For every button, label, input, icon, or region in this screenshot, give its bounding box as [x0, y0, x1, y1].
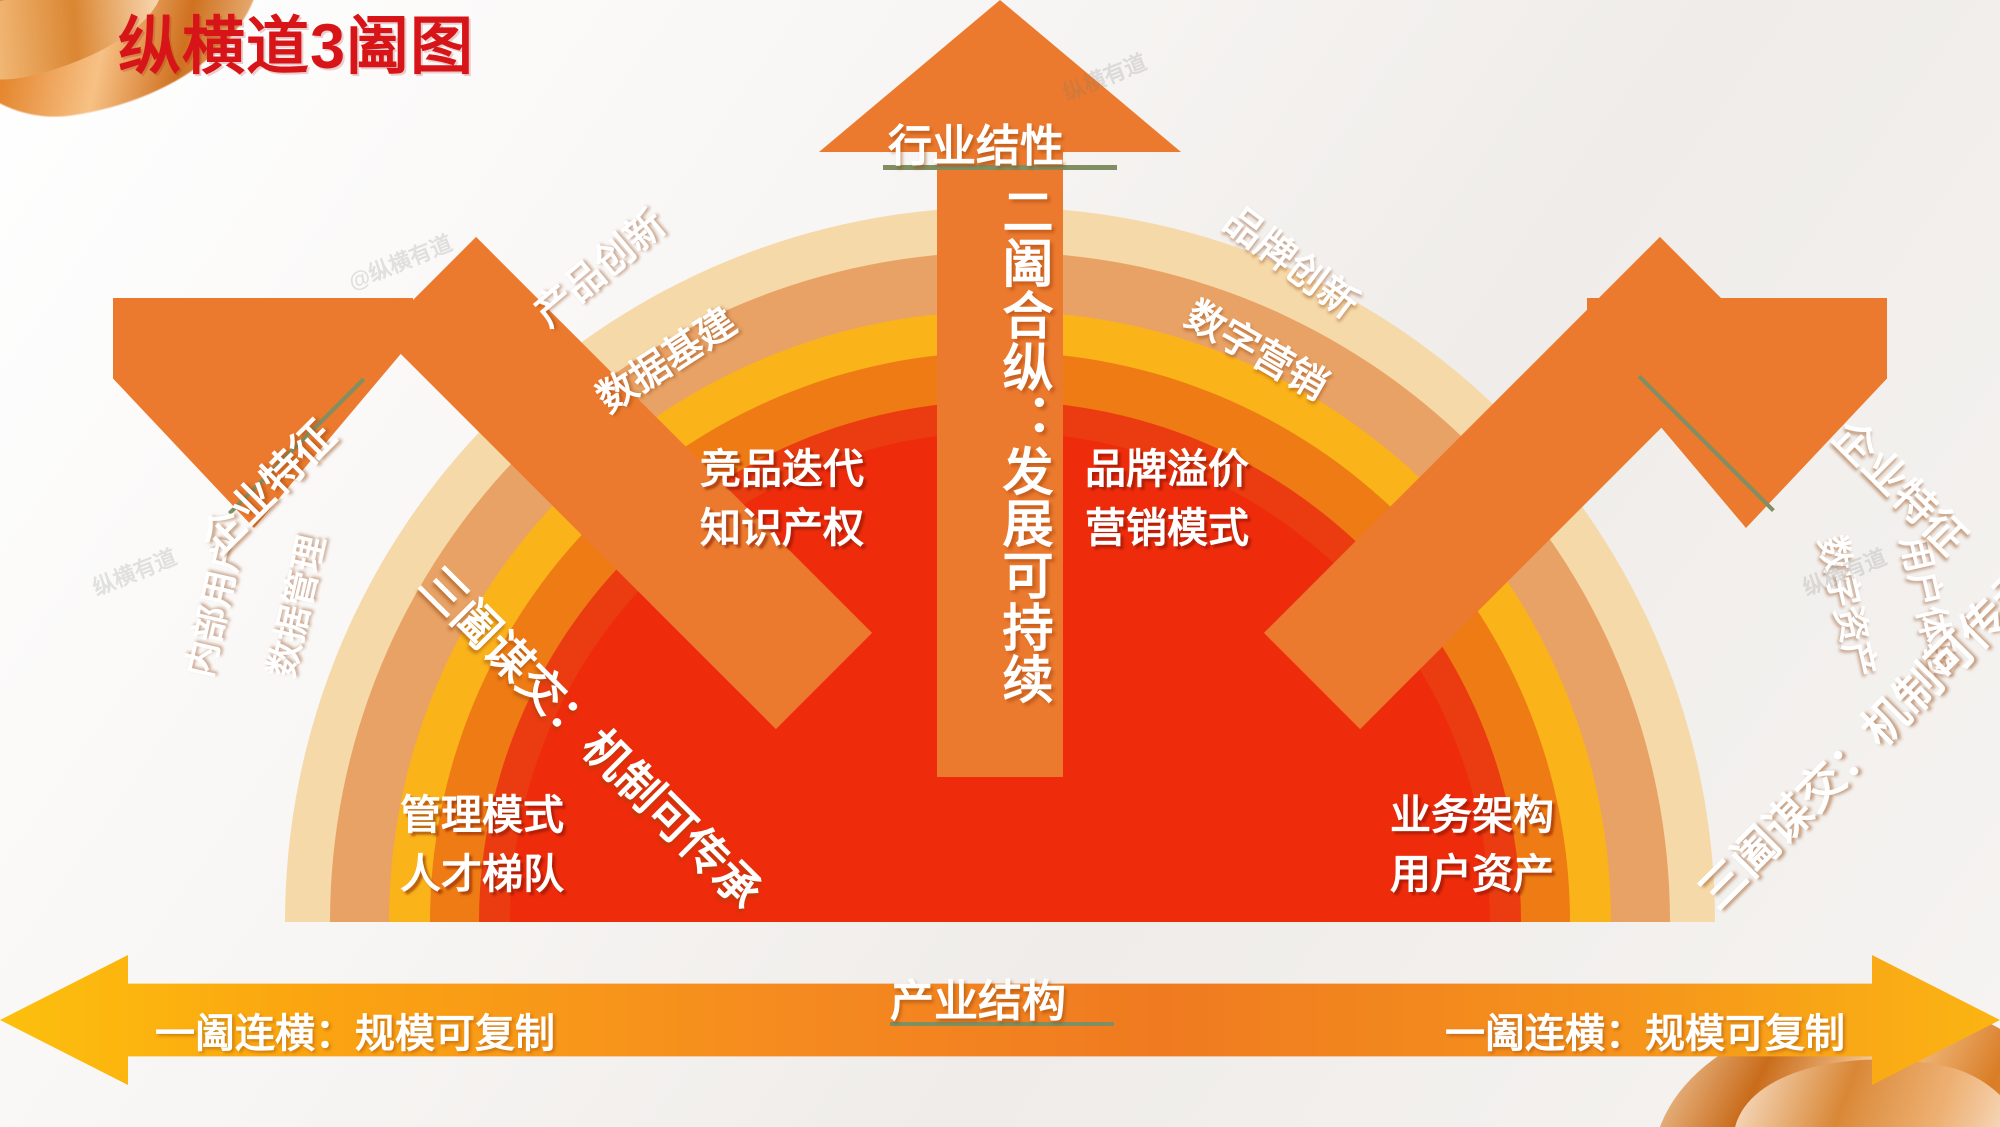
- axis-label-bottom-right: 一阖连横：规模可复制: [1445, 1001, 1845, 1059]
- core-line: 业务架构: [1390, 786, 1554, 845]
- core-line: 营销模式: [1085, 499, 1249, 558]
- core-line: 人才梯队: [400, 845, 564, 904]
- arrow-label-bottom: 产业结构: [890, 965, 1066, 1029]
- axis-label-bottom-left: 一阖连横：规模可复制: [155, 1001, 555, 1059]
- core-text-bottom-right: 业务架构 用户资产: [1390, 786, 1554, 905]
- core-text-top-left: 竞品迭代 知识产权: [700, 440, 864, 559]
- core-line: 知识产权: [700, 499, 864, 558]
- page-title: 纵横道3阖图: [118, 16, 474, 79]
- core-line: 品牌溢价: [1085, 440, 1249, 499]
- core-text-bottom-left: 管理模式 人才梯队: [400, 786, 564, 905]
- axis-label-vertical-center: 二阖合纵：发展可持续: [955, 185, 1051, 705]
- core-line: 竞品迭代: [700, 440, 864, 499]
- core-line: 用户资产: [1390, 845, 1554, 904]
- diagram-canvas: 纵横道3阖图 产品创新 数据基建 品牌创新 数字营销 内部用户 数据管理 用户体…: [0, 0, 2000, 1127]
- core-line: 管理模式: [400, 786, 564, 845]
- arrow-label-top: 行业结性: [888, 110, 1064, 174]
- core-text-top-right: 品牌溢价 营销模式: [1085, 440, 1249, 559]
